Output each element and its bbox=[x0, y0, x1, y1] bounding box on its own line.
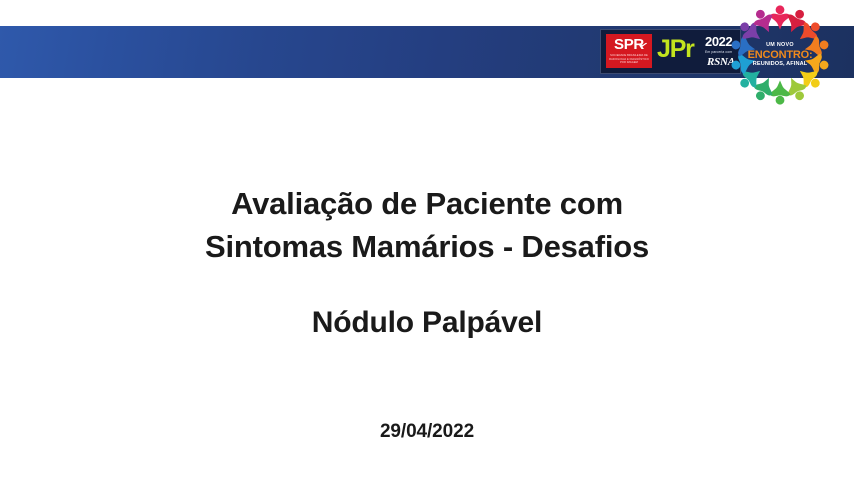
spr-check-icon: ✓ bbox=[639, 39, 650, 52]
spr-logo-box: SPR SOCIEDADE BRASILEIRA DE RADIOLOGIA E… bbox=[606, 34, 652, 68]
title-line-1: Avaliação de Paciente com bbox=[0, 182, 854, 225]
jpr-wordmark: JPr bbox=[657, 37, 694, 62]
encontro-circle-logo: UM NOVO ENCONTRO: REUNIDOS, AFINAL bbox=[727, 2, 833, 108]
slide-date: 29/04/2022 bbox=[0, 421, 854, 443]
slide-title: Avaliação de Paciente com Sintomas Mamár… bbox=[0, 182, 854, 268]
slide-subtitle: Nódulo Palpável bbox=[0, 303, 854, 343]
date-text: 29/04/2022 bbox=[380, 421, 474, 442]
spr-subtitle: SOCIEDADE BRASILEIRA DE RADIOLOGIA E DIA… bbox=[608, 54, 650, 65]
subtitle-line-1: Nódulo Palpável bbox=[0, 303, 854, 343]
presentation-slide: SPR SOCIEDADE BRASILEIRA DE RADIOLOGIA E… bbox=[0, 0, 854, 480]
title-line-2: Sintomas Mamários - Desafios bbox=[0, 225, 854, 268]
jpr-spr-logo-lockup: SPR SOCIEDADE BRASILEIRA DE RADIOLOGIA E… bbox=[600, 29, 741, 74]
people-ring-icon bbox=[727, 2, 833, 108]
